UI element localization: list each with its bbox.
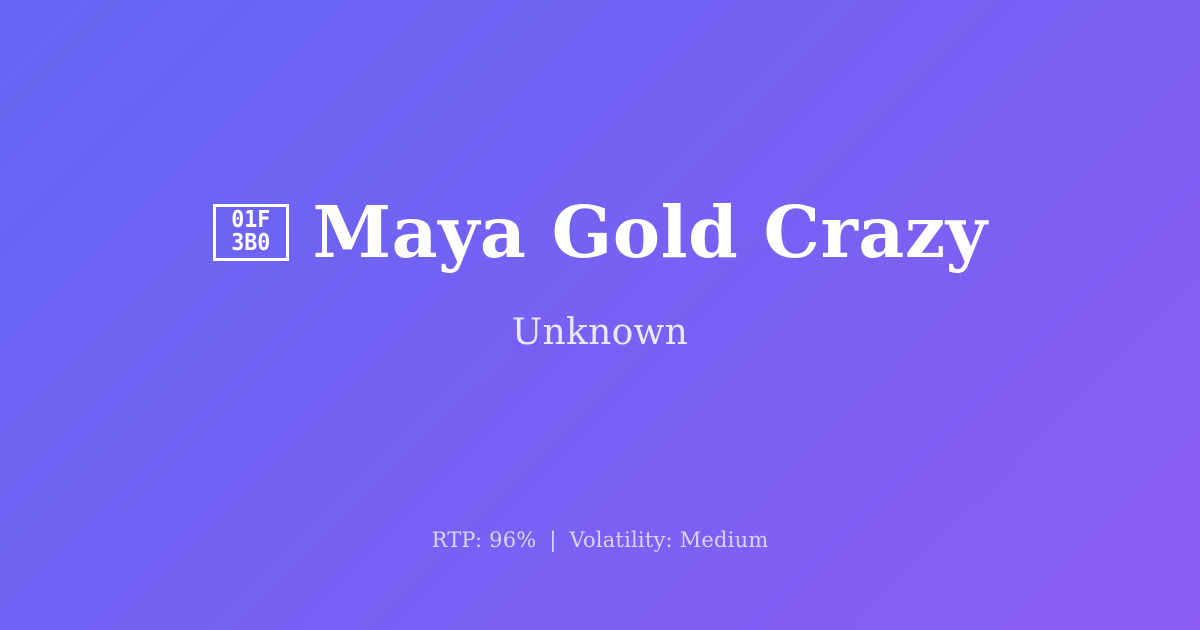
game-provider: Unknown	[512, 312, 688, 353]
rtp-value: 96%	[489, 528, 536, 552]
slot-machine-emoji-icon: 01F 3B0	[213, 204, 289, 261]
game-stats-line: RTP: 96% | Volatility: Medium	[0, 528, 1200, 552]
tofu-codepoint-line-2: 3B0	[231, 232, 270, 255]
game-preview-card: 01F 3B0 Maya Gold Crazy Unknown RTP: 96%…	[0, 0, 1200, 630]
rtp-label: RTP:	[432, 528, 483, 552]
title-row: 01F 3B0 Maya Gold Crazy	[213, 195, 988, 270]
stats-separator: |	[543, 528, 562, 552]
volatility-label: Volatility:	[570, 528, 673, 552]
volatility-value: Medium	[680, 528, 769, 552]
game-title: Maya Gold Crazy	[313, 195, 988, 270]
tofu-codepoint-line-1: 01F	[231, 209, 270, 232]
